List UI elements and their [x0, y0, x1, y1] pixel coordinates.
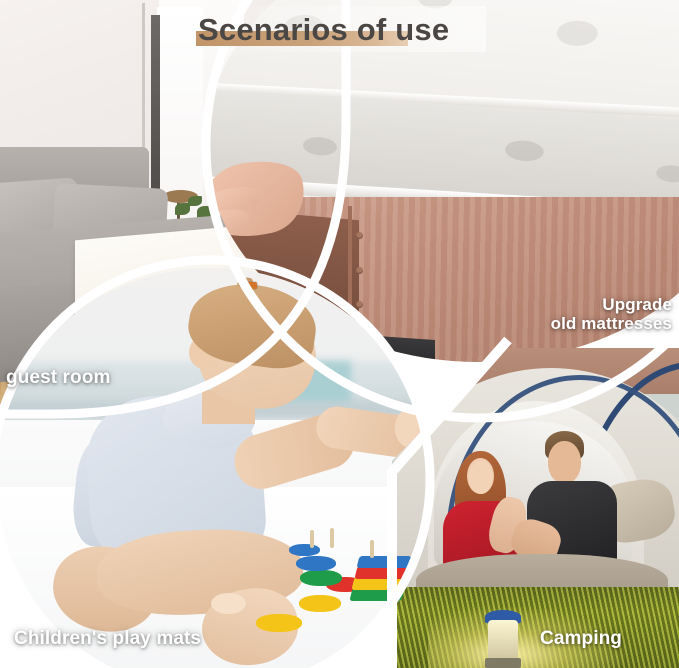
caption-upgrade-old-mattresses: Upgradeold mattresses [530, 295, 672, 333]
dowel-peg-1 [356, 232, 363, 239]
caption-camping: Camping [540, 628, 622, 649]
woman-face [469, 461, 493, 494]
camping-photo [392, 348, 679, 668]
man-head [548, 441, 581, 484]
caption-guest-room: guest room [6, 367, 110, 388]
lantern-base [485, 658, 521, 668]
page-title: Scenarios of use [198, 12, 449, 48]
caption-childrens-play-mats: Children's play mats [14, 628, 201, 649]
caption-upgrade-line1: Upgrade [602, 295, 672, 314]
toddler-hair-clip [248, 282, 257, 289]
play-mat-photo [0, 268, 430, 668]
caption-upgrade-line2: old mattresses [551, 314, 672, 333]
lantern-body [488, 620, 518, 660]
panel-childrens-play-mats [0, 268, 430, 668]
scenarios-of-use-infographic: guest room Upgradeold mattresses [0, 0, 679, 668]
toddler-toes [211, 593, 246, 614]
panel-camping [392, 348, 679, 668]
